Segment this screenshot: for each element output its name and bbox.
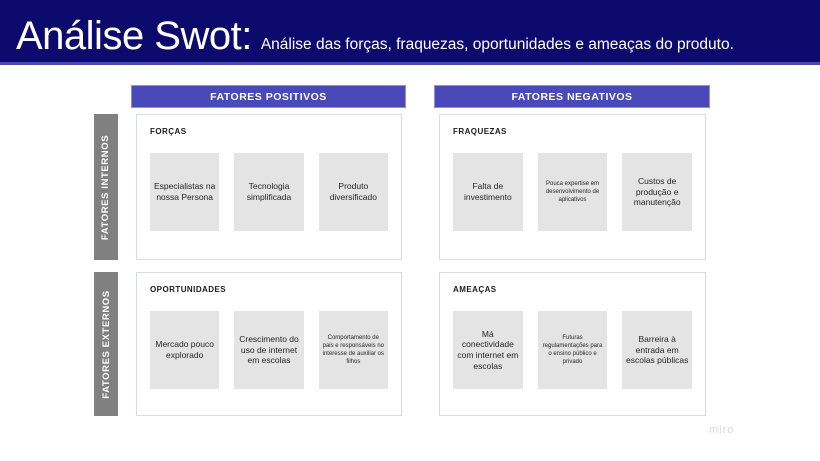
banner-negative-label: FATORES NEGATIVOS [511,91,632,103]
header-accent-line [0,62,820,65]
quadrant-title-forcas: FORÇAS [150,127,186,136]
header-text-group: Análise Swot: Análise das forças, fraque… [16,16,734,56]
card-label: Futuras regulamentações para o ensino pú… [541,334,605,366]
card-row-forcas: Especialistas na nossa Persona Tecnologi… [150,153,388,231]
side-bar-internal-factors: FATORES INTERNOS [94,114,118,260]
card-label: Produto diversificado [322,181,385,202]
quadrant-title-fraquezas: FRAQUEZAS [453,127,507,136]
banner-positive-label: FATORES POSITIVOS [210,91,327,103]
card-label: Falta de investimento [456,181,520,202]
quadrant-title-oportunidades: OPORTUNIDADES [150,285,226,294]
card-label: Tecnologia simplificada [237,181,300,202]
card-label: Crescimento do uso de internet em escola… [237,334,300,366]
banner-negative-factors: FATORES NEGATIVOS [434,85,710,108]
card-item[interactable]: Produto diversificado [319,153,388,231]
card-item[interactable]: Tecnologia simplificada [234,153,303,231]
card-label: Barreira à entrada em escolas públicas [625,334,689,366]
page-title: Análise Swot: [16,16,252,56]
quadrant-forcas: FORÇAS Especialistas na nossa Persona Te… [136,114,402,260]
side-label-external: FATORES EXTERNOS [101,290,112,399]
card-row-oportunidades: Mercado pouco explorado Crescimento do u… [150,311,388,389]
card-label: Mercado pouco explorado [153,339,216,360]
card-item[interactable]: Futuras regulamentações para o ensino pú… [538,311,608,389]
card-label: Comportamento de pais e responsáveis no … [322,334,385,366]
quadrant-title-ameacas: AMEAÇAS [453,285,497,294]
side-label-internal: FATORES INTERNOS [101,134,112,239]
page-subtitle: Análise das forças, fraquezas, oportunid… [261,37,734,53]
card-label: Pouca expertise em desenvolvimento de ap… [541,180,605,204]
card-item[interactable]: Especialistas na nossa Persona [150,153,219,231]
card-item[interactable]: Pouca expertise em desenvolvimento de ap… [538,153,608,231]
quadrant-oportunidades: OPORTUNIDADES Mercado pouco explorado Cr… [136,272,402,416]
card-item[interactable]: Barreira à entrada em escolas públicas [622,311,692,389]
banner-positive-factors: FATORES POSITIVOS [131,85,406,108]
card-label: Má conectividade com internet em escolas [456,329,520,372]
page-header: Análise Swot: Análise das forças, fraque… [0,0,820,62]
quadrant-ameacas: AMEAÇAS Má conectividade com internet em… [439,272,706,416]
miro-watermark: miro [709,424,734,436]
card-label: Custos de produção e manutenção [625,176,689,208]
card-item[interactable]: Crescimento do uso de internet em escola… [234,311,303,389]
quadrant-fraquezas: FRAQUEZAS Falta de investimento Pouca ex… [439,114,706,260]
card-label: Especialistas na nossa Persona [153,181,216,202]
card-item[interactable]: Comportamento de pais e responsáveis no … [319,311,388,389]
card-item[interactable]: Falta de investimento [453,153,523,231]
card-item[interactable]: Custos de produção e manutenção [622,153,692,231]
card-item[interactable]: Má conectividade com internet em escolas [453,311,523,389]
card-item[interactable]: Mercado pouco explorado [150,311,219,389]
side-bar-external-factors: FATORES EXTERNOS [94,272,118,416]
card-row-fraquezas: Falta de investimento Pouca expertise em… [453,153,692,231]
card-row-ameacas: Má conectividade com internet em escolas… [453,311,692,389]
